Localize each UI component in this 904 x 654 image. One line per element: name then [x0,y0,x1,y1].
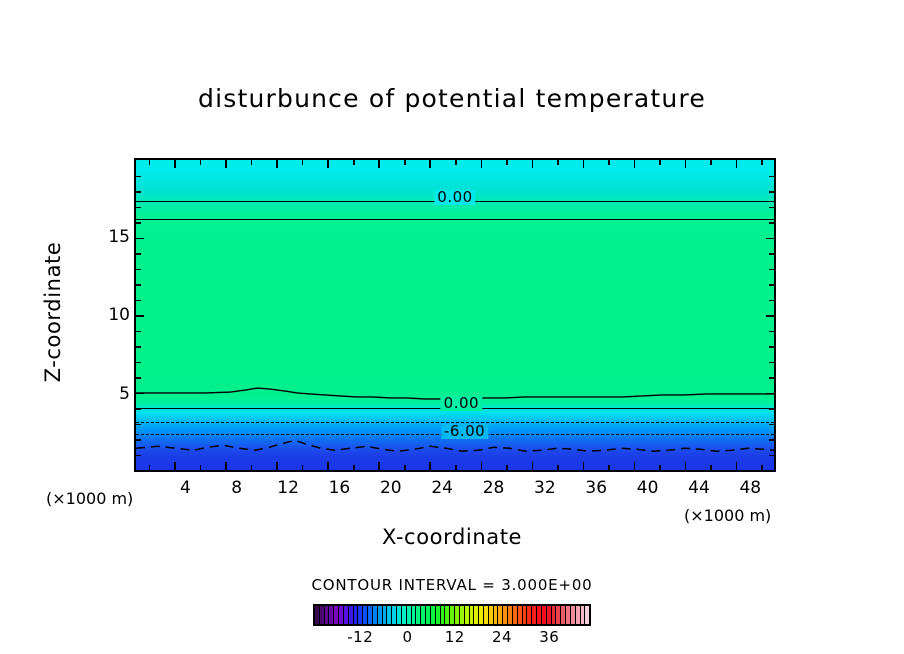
axis-tick-bottom [710,465,712,470]
x-tick-label: 44 [688,478,710,498]
axis-tick-bottom [225,462,227,470]
x-axis-tick-labels: 4 8 12 16 20 24 28 32 36 40 44 48 [134,478,776,500]
axis-tick-right [769,331,774,333]
colorbar-segment [527,606,531,624]
axis-tick-top [736,160,738,168]
colorbar-segment [561,606,565,624]
axis-tick-bottom [200,465,202,470]
axis-tick-bottom [557,465,559,470]
axis-tick-right [769,253,774,255]
axis-tick-bottom [276,462,278,470]
colorbar-segment [358,606,362,624]
axis-tick-top [302,160,304,165]
colorbar-segment [547,606,551,624]
axis-tick-left [136,331,141,333]
axis-tick-top [710,160,712,165]
axis-tick-left [136,439,141,441]
colorbar-segment [392,606,396,624]
y-tick-label: 10 [108,305,130,325]
axis-tick-right [769,269,774,271]
x-tick-label: 20 [380,478,402,498]
y-tick-label: 5 [119,384,130,404]
colorbar-segment [416,606,420,624]
axis-tick-bottom [736,462,738,470]
axis-tick-right [766,238,774,240]
x-tick-label: 40 [637,478,659,498]
axis-tick-right [766,393,774,395]
axis-tick-right [769,439,774,441]
axis-tick-bottom [378,462,380,470]
colorbar-segment [518,606,522,624]
axis-tick-right [769,346,774,348]
colorbar-tick-label: -12 [347,628,373,646]
axis-tick-top [455,160,457,165]
axis-tick-bottom [404,465,406,470]
colorbar-segment [537,606,541,624]
axis-tick-top [353,160,355,165]
contour-line-upper-b [136,219,774,220]
axis-tick-bottom [634,462,636,470]
axis-tick-bottom [429,462,431,470]
axis-tick-left [136,393,144,395]
colorbar-segment [387,606,391,624]
colorbar-segment [315,606,319,624]
axis-tick-top [429,160,431,168]
axis-tick-bottom [608,465,610,470]
x-axis-title: X-coordinate [0,525,904,549]
axis-tick-top [225,160,227,168]
colorbar-segment [436,606,440,624]
axis-tick-right [769,300,774,302]
colorbar-segment [421,606,425,624]
colorbar-segment [445,606,449,624]
axis-tick-right [769,176,774,178]
colorbar-segment [407,606,411,624]
y-axis-unit-label: (×1000 m) [46,489,133,508]
axis-tick-bottom [659,465,661,470]
colorbar-segment [513,606,517,624]
x-axis-unit-label: (×1000 m) [684,506,771,525]
colorbar-segment [470,606,474,624]
axis-tick-left [136,300,141,302]
axis-tick-top [659,160,661,165]
axis-tick-left [136,346,141,348]
axis-tick-bottom [251,465,253,470]
axis-tick-left [136,238,144,240]
axis-tick-top [583,160,585,168]
colorbar-tick-labels: -12 0 12 24 36 [313,628,591,648]
colorbar-segment [460,606,464,624]
contour-label-neg6: -6.00 [441,424,488,439]
colorbar-segment [552,606,556,624]
axis-tick-right [769,191,774,193]
colorbar-tick-label: 36 [539,628,559,646]
axis-tick-left [136,284,141,286]
colorbar-segment [325,606,329,624]
colorbar-segment [383,606,387,624]
x-tick-label: 16 [329,478,351,498]
axis-tick-bottom [353,465,355,470]
colorbar-tick-label: 24 [492,628,512,646]
colorbar-segment [339,606,343,624]
colorbar-segment [455,606,459,624]
colorbar-segment [426,606,430,624]
axis-tick-top [200,160,202,165]
colorbar-segment [334,606,338,624]
contour-interval-label: CONTOUR INTERVAL = 3.000E+00 [0,576,904,594]
colorbar-segment [320,606,324,624]
axis-tick-right [769,284,774,286]
axis-tick-bottom [506,465,508,470]
axis-tick-right [769,424,774,426]
colorbar-segment [484,606,488,624]
colorbar-segment [373,606,377,624]
colorbar-segment [508,606,512,624]
axis-tick-bottom [302,465,304,470]
colorbar-segment [465,606,469,624]
colorbar-segment [397,606,401,624]
axis-tick-bottom [455,465,457,470]
colorbar-segment [412,606,416,624]
colorbar-segment [489,606,493,624]
y-axis-tick-labels: 5 10 15 [86,158,130,472]
axis-tick-left [136,207,141,209]
colorbar-segment [523,606,527,624]
colorbar-tick-label: 0 [402,628,412,646]
colorbar-segment [450,606,454,624]
y-tick-label: 15 [108,227,130,247]
colorbar-segment [542,606,546,624]
axis-tick-left [136,315,144,317]
axis-tick-bottom [761,465,763,470]
axis-tick-top [532,160,534,168]
colorbar-segment [474,606,478,624]
colorbar-segment [503,606,507,624]
colorbar-segment [494,606,498,624]
colorbar-segment [354,606,358,624]
colorbar-segment [349,606,353,624]
x-tick-label: 36 [585,478,607,498]
axis-tick-bottom [149,465,151,470]
axis-tick-top [685,160,687,168]
colorbar-segment [585,606,589,624]
axis-tick-left [136,269,141,271]
axis-tick-bottom [583,462,585,470]
x-tick-label: 28 [483,478,505,498]
axis-tick-left [136,455,141,457]
axis-tick-left [136,222,141,224]
colorbar-segment [532,606,536,624]
colorbar-segment [498,606,502,624]
colorbar-segment [378,606,382,624]
axis-tick-top [276,160,278,168]
contour-label-zero-upper: 0.00 [434,190,475,205]
colorbar-segment [479,606,483,624]
axis-tick-top [761,160,763,165]
colorbar[interactable] [313,604,591,626]
axis-tick-left [136,191,141,193]
colorbar-segment [556,606,560,624]
axis-tick-right [769,207,774,209]
axis-tick-top [634,160,636,168]
axis-tick-top [481,160,483,168]
axis-tick-right [769,377,774,379]
colorbar-segment [581,606,585,624]
plot-area[interactable]: 0.00 0.00 -6.00 [134,158,776,472]
colorbar-segment [566,606,570,624]
colorbar-segment [571,606,575,624]
axis-tick-top [174,160,176,168]
axis-tick-top [506,160,508,165]
contour-plot-figure: disturbunce of potential temperature 0.0… [0,0,904,654]
colorbar-segment [344,606,348,624]
colorbar-segment [441,606,445,624]
x-tick-label: 12 [277,478,299,498]
x-tick-label: 4 [180,478,191,498]
axis-tick-top [327,160,329,168]
axis-tick-bottom [481,462,483,470]
axis-tick-bottom [327,462,329,470]
colorbar-tick-label: 12 [445,628,465,646]
axis-tick-left [136,176,141,178]
colorbar-segment [576,606,580,624]
colorbar-segment [363,606,367,624]
colorbar-segment [402,606,406,624]
axis-tick-left [136,424,141,426]
axis-tick-right [766,315,774,317]
x-tick-label: 24 [431,478,453,498]
axis-tick-right [769,222,774,224]
y-axis-title: Z-coordinate [41,197,65,427]
x-tick-label: 48 [739,478,761,498]
axis-tick-top [608,160,610,165]
axis-tick-bottom [685,462,687,470]
axis-tick-bottom [532,462,534,470]
x-tick-label: 8 [231,478,242,498]
colorbar-segment [368,606,372,624]
x-tick-label: 32 [534,478,556,498]
axis-tick-right [769,408,774,410]
axis-tick-bottom [174,462,176,470]
contour-label-zero-lower: 0.00 [441,396,482,411]
axis-tick-top [378,160,380,168]
axis-tick-left [136,408,141,410]
page-title: disturbunce of potential temperature [0,84,904,113]
axis-tick-left [136,377,141,379]
axis-tick-top [149,160,151,165]
axis-tick-left [136,253,141,255]
axis-tick-right [769,455,774,457]
axis-tick-top [404,160,406,165]
colorbar-segment [431,606,435,624]
axis-tick-top [557,160,559,165]
axis-tick-right [769,362,774,364]
axis-tick-left [136,362,141,364]
axis-tick-top [251,160,253,165]
colorbar-segment [329,606,333,624]
